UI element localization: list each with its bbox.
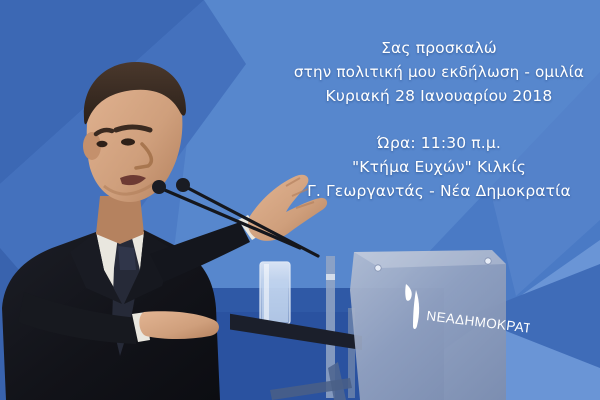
invitation-line-1: Σας προσκαλώ — [282, 36, 596, 60]
invitation-line-4: Ώρα: 11:30 π.μ. — [282, 131, 596, 155]
podium-rail — [230, 312, 362, 350]
podium-post-clamp — [326, 274, 335, 280]
podium-illustration: ΝΕΑΔΗΜΟΚΡΑΤΙΑ — [230, 250, 530, 400]
necktie-knot — [118, 246, 136, 270]
event-poster: ΝΕΑΔΗΜΟΚΡΑΤΙΑ Σας προσκαλώ στην πολιτική… — [0, 0, 600, 400]
invitation-text-block: Σας προσκαλώ στην πολιτική μου εκδήλωση … — [282, 36, 596, 203]
invitation-line-2: στην πολιτική μου εκδήλωση - ομιλία — [282, 60, 596, 84]
water-glass-highlight — [264, 264, 269, 322]
invitation-line-6: Γ. Γεωργαντάς - Νέα Δημοκρατία — [282, 179, 596, 203]
invitation-line-5: "Κτήμα Ευχών" Κιλκίς — [282, 155, 596, 179]
microphone-head-1 — [152, 180, 166, 194]
neck — [96, 196, 144, 244]
microphone-stem-1 — [160, 188, 300, 248]
water-glass — [260, 262, 290, 324]
microphone-head-2 — [176, 178, 190, 192]
eye-right — [121, 138, 135, 145]
text-spacer — [282, 108, 596, 131]
eye-left — [97, 141, 108, 147]
podium-screw-right — [485, 258, 491, 264]
podium: ΝΕΑΔΗΜΟΚΡΑΤΙΑ — [230, 250, 530, 400]
invitation-line-3: Κυριακή 28 Ιανουαρίου 2018 — [282, 84, 596, 108]
podium-screw-left — [375, 265, 381, 271]
